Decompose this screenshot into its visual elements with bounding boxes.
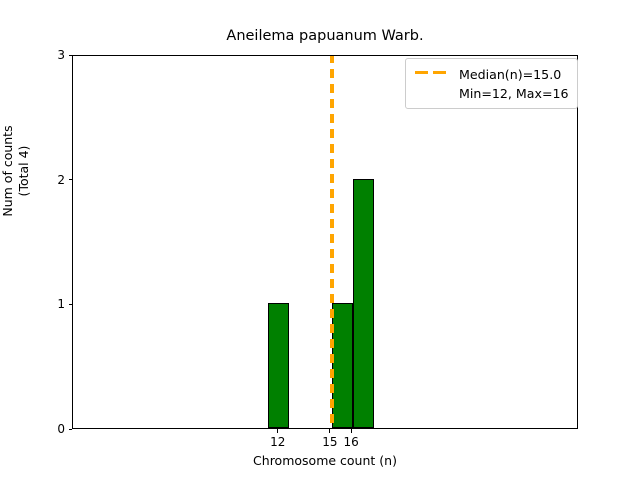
- x-tick-label: 16: [321, 435, 381, 449]
- dashed-line-icon: [414, 64, 450, 81]
- y-axis-label-line2: (Total 4): [16, 146, 31, 197]
- y-tick-label: 2: [57, 171, 65, 189]
- plot-area: [72, 55, 578, 429]
- legend-text-block: Median(n)=15.0 Min=12, Max=16: [459, 64, 569, 102]
- y-tick-1: 1: [0, 304, 72, 305]
- legend-label-median: Median(n)=15.0: [459, 67, 561, 82]
- y-tick-label: 1: [57, 295, 65, 313]
- legend-entry-median: Median(n)=15.0 Min=12, Max=16: [414, 64, 569, 102]
- legend-label-minmax: Min=12, Max=16: [459, 86, 569, 101]
- y-axis-label-line1: Num of counts: [0, 125, 15, 216]
- median-line: [330, 55, 333, 429]
- chart-figure: Aneilema papuanum Warb. 0 1 2 3 Num of c…: [0, 0, 640, 480]
- chart-legend: Median(n)=15.0 Min=12, Max=16: [405, 58, 578, 109]
- y-tick-label: 0: [57, 420, 65, 438]
- x-tick-mark: [277, 429, 278, 433]
- x-axis-label: Chromosome count (n): [72, 453, 578, 468]
- y-tick-0: 0: [0, 429, 72, 430]
- x-tick-mark: [351, 429, 352, 433]
- x-tick-label: 12: [248, 435, 308, 449]
- chart-title: Aneilema papuanum Warb.: [72, 28, 578, 44]
- y-tick-label: 3: [57, 46, 65, 64]
- y-axis-label: Num of counts(Total 4): [0, 51, 32, 291]
- x-tick-mark: [329, 429, 330, 433]
- median-layer: [73, 56, 577, 428]
